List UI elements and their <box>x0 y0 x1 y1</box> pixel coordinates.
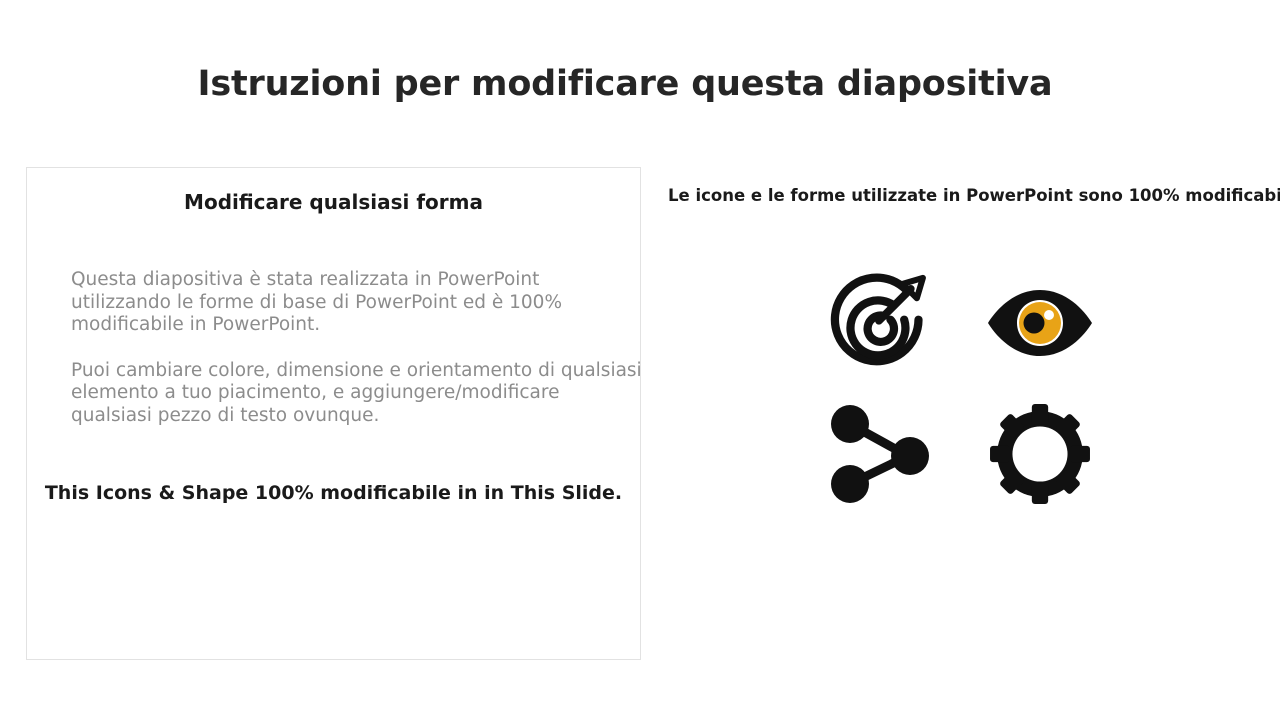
eye-icon <box>984 284 1096 362</box>
icon-cell-share <box>820 394 940 514</box>
icon-cell-eye <box>980 263 1100 383</box>
share-icon <box>829 405 931 503</box>
share-node-top-icon <box>831 405 869 443</box>
icon-cell-gear <box>980 394 1100 514</box>
panel-heading: Modificare qualsiasi forma <box>27 190 640 214</box>
target-icon <box>825 268 935 378</box>
icon-grid <box>800 258 1120 520</box>
icon-cell-target <box>820 263 940 383</box>
panel-footnote: This Icons & Shape 100% modificabile in … <box>27 482 640 504</box>
gear-center-hole-icon <box>1012 426 1067 481</box>
left-content-panel: Modificare qualsiasi forma Questa diapos… <box>26 167 641 660</box>
share-node-right-icon <box>891 437 929 475</box>
gear-icon <box>989 403 1091 505</box>
share-node-bottom-icon <box>831 465 869 503</box>
slide: Istruzioni per modificare questa diaposi… <box>0 0 1280 720</box>
page-title: Istruzioni per modificare questa diaposi… <box>0 64 1250 104</box>
panel-paragraph-2: Puoi cambiare colore, dimensione e orien… <box>71 360 643 428</box>
icons-section-heading: Le icone e le forme utilizzate in PowerP… <box>668 186 1280 205</box>
panel-paragraph-1: Questa diapositiva è stata realizzata in… <box>71 269 643 337</box>
eye-pupil-icon <box>1024 313 1045 334</box>
eye-highlight-icon <box>1044 310 1054 320</box>
panel-body-text: Questa diapositiva è stata realizzata in… <box>71 269 643 427</box>
